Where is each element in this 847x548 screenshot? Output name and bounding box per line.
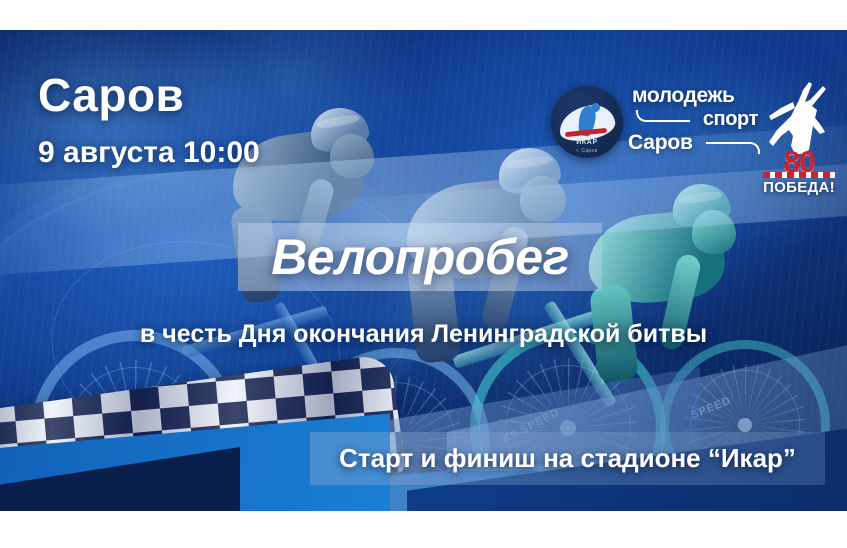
logo-swash-icon — [636, 110, 690, 122]
event-datetime: 9 августа 10:00 — [38, 138, 260, 168]
motherland-calls-statue-icon — [765, 80, 833, 156]
youth-sport-line-2: спорт — [703, 108, 758, 131]
youth-sport-line-1: молодежь — [632, 84, 735, 108]
ikar-stadium-logo: ИКАР г. Саров — [551, 86, 623, 158]
page-margin-bottom — [0, 511, 847, 548]
logo-swash-icon-secondary — [706, 142, 760, 154]
event-poster: K9 SPEED K9 SPEED SPEED — [0, 30, 847, 511]
youth-sport-line-3: Саров — [628, 131, 693, 155]
event-title: Велопробег — [238, 226, 602, 288]
venue-text: Старт и финиш на стадионе “Икар” — [310, 432, 825, 485]
ikar-logo-name: ИКАР — [551, 139, 623, 146]
youth-sport-sarov-logo: молодежь спорт Саров — [628, 84, 762, 156]
victory-80-anniversary-logo: 80 ПОБЕДА! — [757, 80, 841, 194]
victory-word: ПОБЕДА! — [757, 179, 841, 196]
event-subtitle: в честь Дня окончания Ленинградской битв… — [0, 320, 847, 349]
page-margin-top — [0, 0, 847, 30]
runner-head-icon — [591, 103, 600, 112]
ikar-logo-subtitle: г. Саров — [551, 148, 623, 154]
victory-ribbon-icon — [763, 172, 835, 178]
city-name: Саров — [38, 72, 184, 118]
